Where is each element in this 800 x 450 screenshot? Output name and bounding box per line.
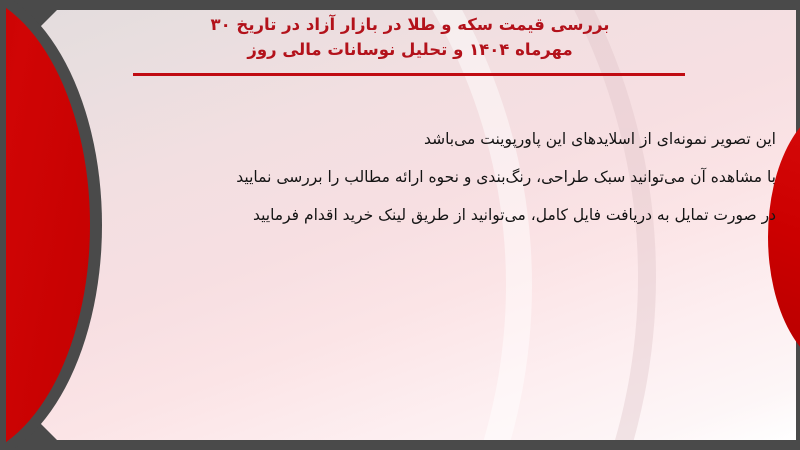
body-line-3: در صورت تمایل به دریافت فایل کامل، می‌تو…: [56, 196, 776, 234]
body-line-2: با مشاهده آن می‌توانید سبک طراحی، رنگ‌بن…: [56, 158, 776, 196]
left-frame-edge: [0, 0, 6, 450]
slide-title: بررسی قیمت سکه و طلا در بازار آزاد در تا…: [130, 12, 690, 62]
slide-canvas: بررسی قیمت سکه و طلا در بازار آزاد در تا…: [0, 0, 800, 450]
title-underline: [133, 73, 685, 76]
slide-title-line-2: مهرماه ۱۴۰۴ و تحلیل نوسانات مالی روز: [130, 37, 690, 62]
body-line-1: این تصویر نمونه‌ای از اسلایدهای این پاور…: [56, 120, 776, 158]
slide-title-line-1: بررسی قیمت سکه و طلا در بازار آزاد در تا…: [130, 12, 690, 37]
slide-body: این تصویر نمونه‌ای از اسلایدهای این پاور…: [56, 120, 776, 234]
